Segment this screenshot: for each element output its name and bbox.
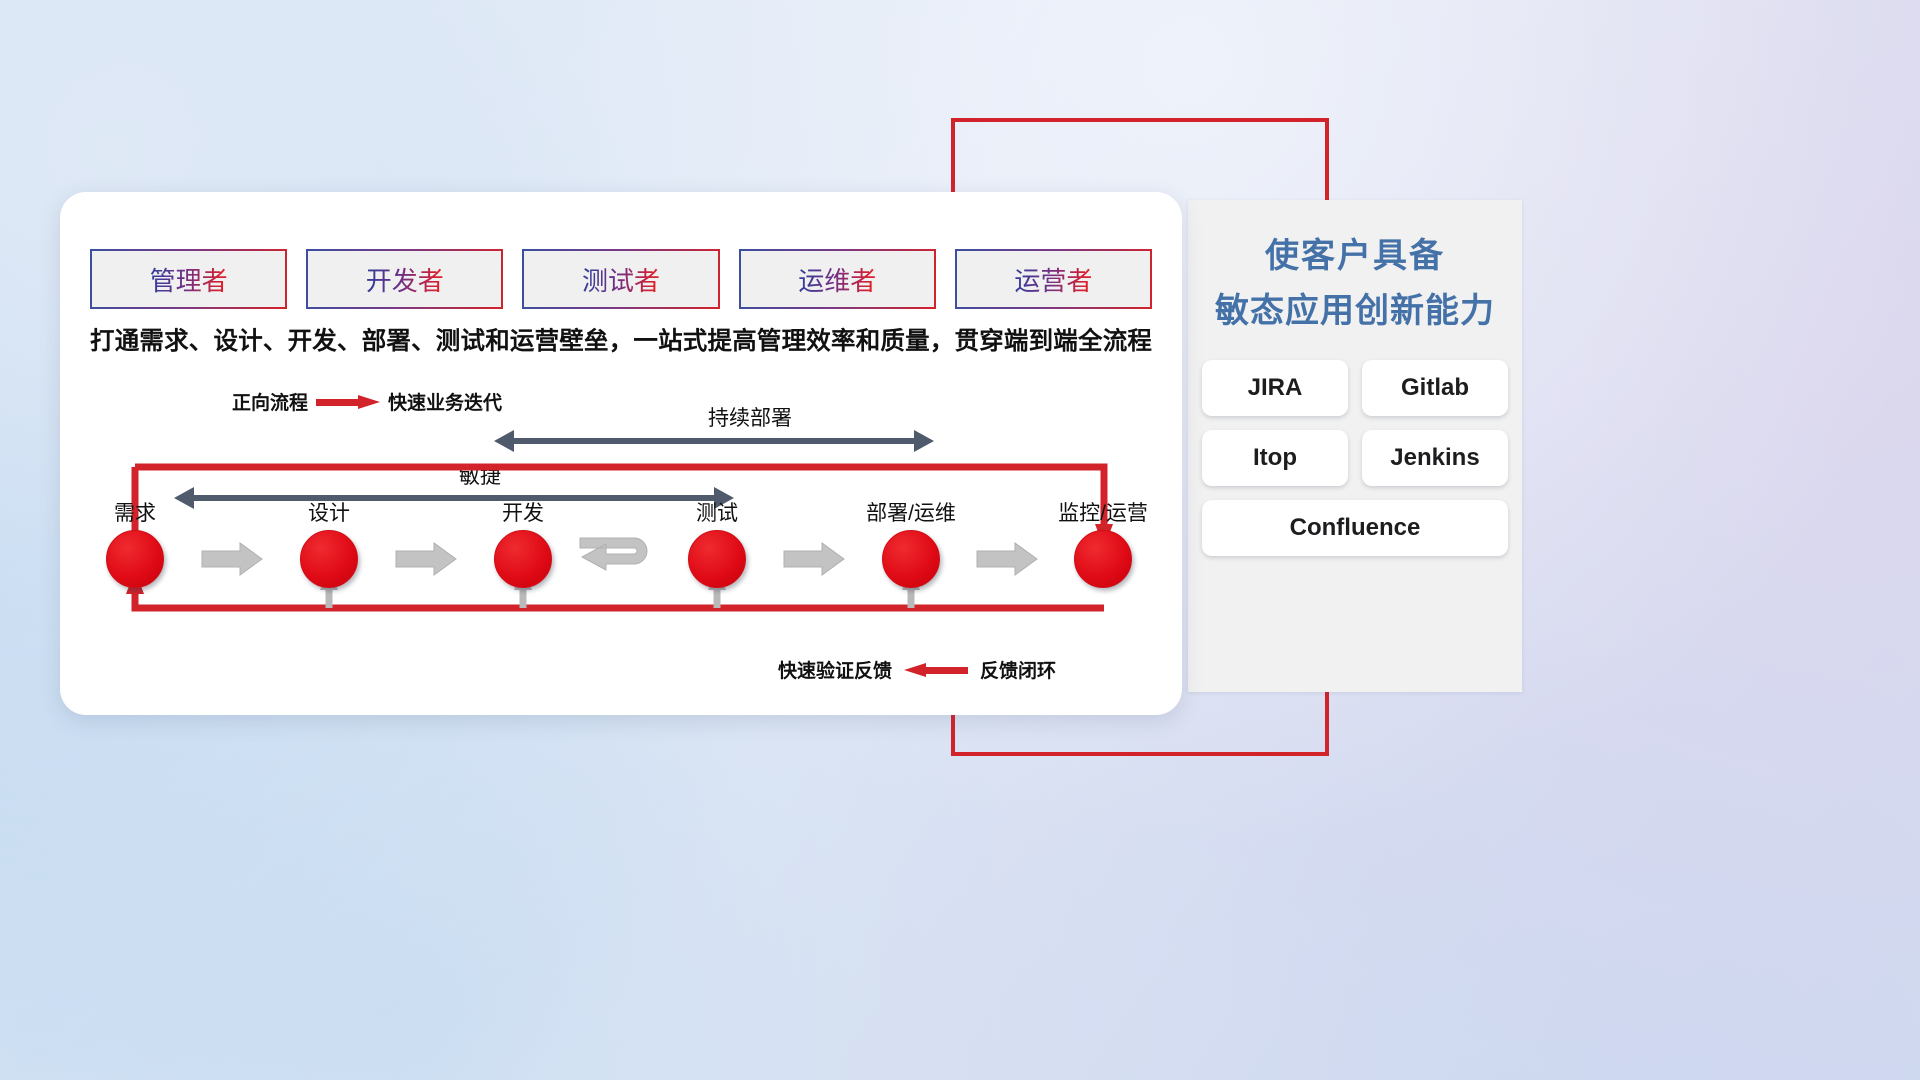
role-box-manager-label: 管理者: [150, 261, 228, 298]
role-box-ops[interactable]: 运维者: [739, 249, 936, 309]
arrow-head-right-icon: [914, 430, 934, 452]
slide-background: 使客户具备 敏态应用创新能力 JIRA Gitlab Itop Jenkins …: [0, 0, 1920, 1080]
legend-forward-flow: 正向流程 快速业务迭代: [232, 388, 502, 415]
pipeline-node-deploy-ops-label: 部署/运维: [866, 497, 956, 527]
pipeline-node-monitor-operations[interactable]: [1074, 530, 1132, 588]
tool-badge-jenkins[interactable]: Jenkins: [1362, 430, 1508, 486]
card-subtitle: 打通需求、设计、开发、部署、测试和运营壁垒，一站式提高管理效率和质量，贯穿端到端…: [90, 322, 1152, 357]
pipeline-node-monitor-operations-label: 监控/运营: [1058, 497, 1148, 527]
role-box-operations-label: 运营者: [1014, 261, 1092, 298]
chevron-right-icon: [975, 542, 1039, 576]
pipeline-node-development-label: 开发: [502, 497, 544, 527]
legend-forward-from-label: 正向流程: [232, 388, 308, 415]
arrow-head-left-icon: [494, 430, 514, 452]
devops-flow-card: 管理者 开发者 测试者 运维者 运营者 打通需求、设计、开发、部署、测试和运营壁…: [60, 192, 1182, 715]
tool-badge-grid: JIRA Gitlab Itop Jenkins Confluence: [1202, 360, 1508, 556]
panel-headline: 使客户具备 敏态应用创新能力: [1188, 234, 1522, 334]
role-box-operations[interactable]: 运营者: [955, 249, 1152, 309]
pipeline-node-design[interactable]: [300, 530, 358, 588]
arrow-bar: [192, 495, 716, 501]
tool-badge-gitlab[interactable]: Gitlab: [1362, 360, 1508, 416]
pipeline-node-design-label: 设计: [308, 497, 350, 527]
pipeline-node-deploy-ops[interactable]: [882, 530, 940, 588]
legend-feedback-loop: 快速验证反馈 反馈闭环: [778, 656, 1056, 683]
continuous-deployment-label: 持续部署: [550, 402, 950, 432]
pipeline-node-development[interactable]: [494, 530, 552, 588]
agile-label: 敏捷: [280, 460, 680, 490]
tool-badge-confluence[interactable]: Confluence: [1202, 500, 1508, 556]
tool-badge-jira[interactable]: JIRA: [1202, 360, 1348, 416]
agile-arrow: [174, 487, 734, 509]
arrow-left-red-icon: [904, 663, 968, 677]
role-box-developer-label: 开发者: [366, 261, 444, 298]
continuous-deployment-arrow: [494, 430, 934, 452]
tool-badge-itop[interactable]: Itop: [1202, 430, 1348, 486]
pipeline-node-requirements[interactable]: [106, 530, 164, 588]
legend-forward-to-label: 快速业务迭代: [388, 388, 502, 415]
panel-headline-line2: 敏态应用创新能力: [1188, 289, 1522, 334]
role-box-row: 管理者 开发者 测试者 运维者 运营者: [90, 249, 1152, 309]
pipeline-node-testing-label: 测试: [696, 497, 738, 527]
chevron-right-icon: [394, 542, 458, 576]
arrow-right-red-icon: [316, 395, 380, 409]
role-box-developer[interactable]: 开发者: [306, 249, 503, 309]
arrow-head-left-icon: [174, 487, 194, 509]
legend-feedback-from-label: 反馈闭环: [980, 656, 1056, 683]
panel-headline-line1: 使客户具备: [1188, 234, 1522, 279]
arrow-bar: [512, 438, 916, 444]
iteration-loop-icon: [576, 534, 664, 580]
chevron-right-icon: [200, 542, 264, 576]
chevron-right-icon: [782, 542, 846, 576]
tooling-panel: 使客户具备 敏态应用创新能力 JIRA Gitlab Itop Jenkins …: [1188, 200, 1522, 692]
role-box-tester-label: 测试者: [582, 261, 660, 298]
role-box-tester[interactable]: 测试者: [522, 249, 719, 309]
pipeline-node-requirements-label: 需求: [114, 497, 156, 527]
legend-feedback-to-label: 快速验证反馈: [778, 656, 892, 683]
role-box-manager[interactable]: 管理者: [90, 249, 287, 309]
pipeline-node-testing[interactable]: [688, 530, 746, 588]
role-box-ops-label: 运维者: [798, 261, 876, 298]
